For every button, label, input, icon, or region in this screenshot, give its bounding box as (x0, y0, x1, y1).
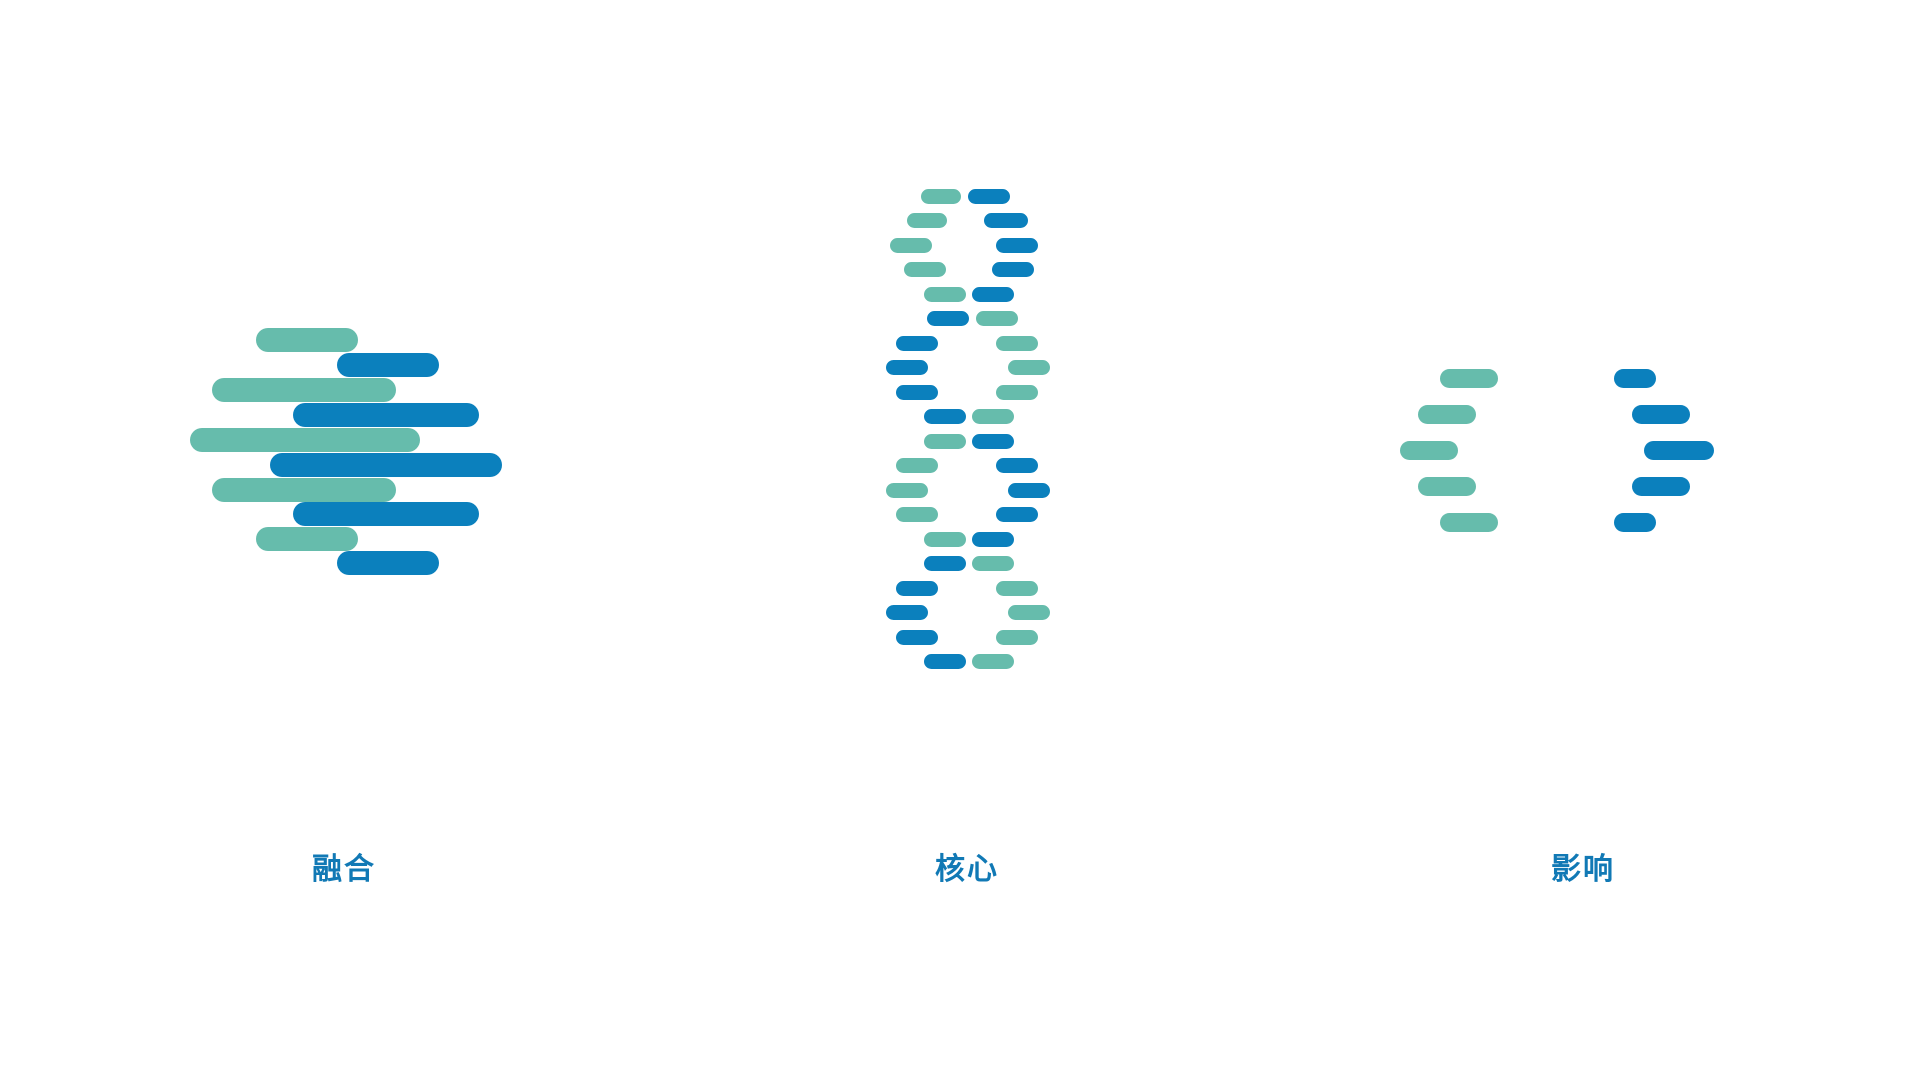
bar-segment (256, 527, 358, 551)
bar-segment (270, 453, 502, 477)
bar-segment (907, 213, 947, 228)
lens-stack-icon (0, 0, 688, 720)
bar-segment (972, 654, 1014, 669)
bar-segment (996, 507, 1038, 522)
cluster-label-core: 核心 (688, 855, 1246, 885)
cluster-core[interactable]: 核心 (688, 0, 1246, 1080)
bar-segment (1418, 405, 1476, 424)
bar-segment (1008, 360, 1050, 375)
bar-segment (927, 311, 969, 326)
bar-segment (896, 385, 938, 400)
bar-segment (190, 428, 420, 452)
bar-segment (924, 532, 966, 547)
bar-segment (921, 189, 961, 204)
bar-segment (337, 551, 439, 575)
bar-segment (212, 378, 396, 402)
bar-segment (924, 556, 966, 571)
facing-arcs-icon (1246, 0, 1920, 720)
bar-segment (1008, 605, 1050, 620)
bar-segment (992, 262, 1034, 277)
bar-segment (896, 581, 938, 596)
bar-segment (886, 605, 928, 620)
bar-segment (972, 434, 1014, 449)
bar-segment (1644, 441, 1714, 460)
bar-segment (924, 434, 966, 449)
infographic-canvas: 融合 核心 影响 (0, 0, 1920, 1080)
bar-segment (886, 483, 928, 498)
bar-segment (896, 336, 938, 351)
bar-segment (1632, 405, 1690, 424)
bar-segment (1440, 369, 1498, 388)
bar-segment (976, 311, 1018, 326)
bar-segment (924, 409, 966, 424)
bar-segment (1418, 477, 1476, 496)
bar-segment (337, 353, 439, 377)
bar-segment (996, 336, 1038, 351)
bar-segment (924, 654, 966, 669)
bar-segment (996, 238, 1038, 253)
bar-segment (293, 502, 479, 526)
cluster-fusion[interactable]: 融合 (0, 0, 688, 1080)
bar-segment (924, 287, 966, 302)
bar-segment (896, 507, 938, 522)
bar-segment (1400, 441, 1458, 460)
bar-segment (1632, 477, 1690, 496)
bar-segment (972, 287, 1014, 302)
bar-segment (886, 360, 928, 375)
bar-segment (904, 262, 946, 277)
bar-segment (212, 478, 396, 502)
bar-segment (972, 409, 1014, 424)
bar-segment (896, 458, 938, 473)
bar-segment (1440, 513, 1498, 532)
cluster-label-fusion: 融合 (0, 855, 688, 885)
bar-segment (968, 189, 1010, 204)
bar-segment (996, 581, 1038, 596)
bar-segment (996, 385, 1038, 400)
bar-segment (293, 403, 479, 427)
bar-segment (1614, 369, 1656, 388)
bar-segment (984, 213, 1028, 228)
bar-segment (1008, 483, 1050, 498)
bar-segment (896, 630, 938, 645)
bar-segment (996, 458, 1038, 473)
bar-segment (890, 238, 932, 253)
cluster-impact[interactable]: 影响 (1246, 0, 1920, 1080)
dna-helix-icon (688, 0, 1246, 720)
bar-segment (996, 630, 1038, 645)
bar-segment (256, 328, 358, 352)
bar-segment (972, 556, 1014, 571)
bar-segment (972, 532, 1014, 547)
bar-segment (1614, 513, 1656, 532)
cluster-label-impact: 影响 (1246, 855, 1920, 885)
